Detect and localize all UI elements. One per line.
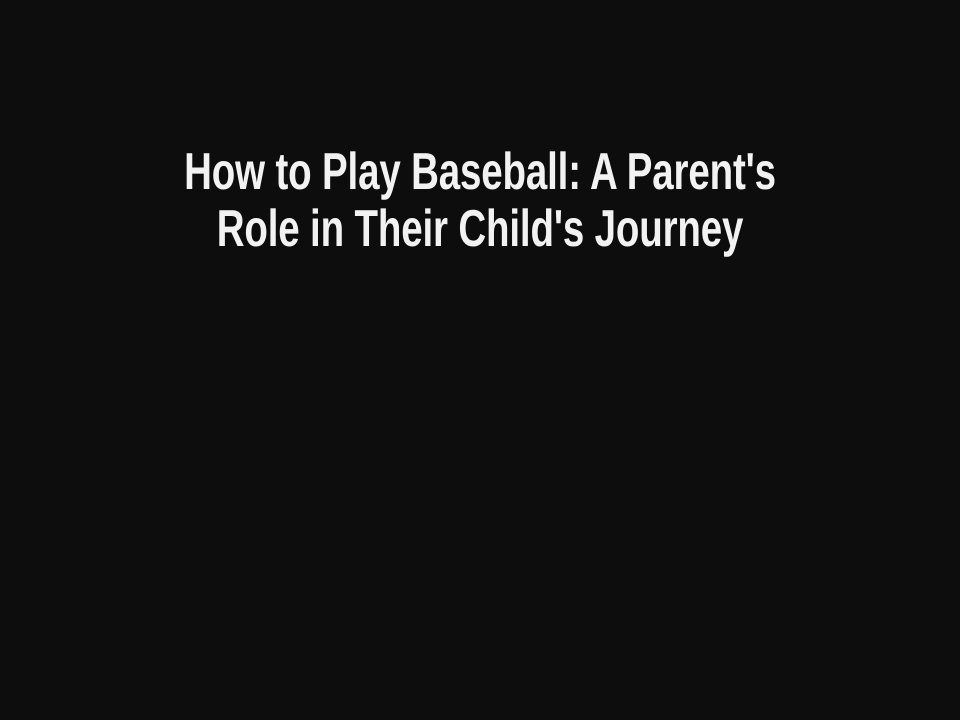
- book-cover-canvas: How to Play Baseball: A Parent's Role in…: [0, 0, 960, 720]
- page-title: How to Play Baseball: A Parent's Role in…: [143, 144, 818, 258]
- title-block: How to Play Baseball: A Parent's Role in…: [0, 144, 960, 258]
